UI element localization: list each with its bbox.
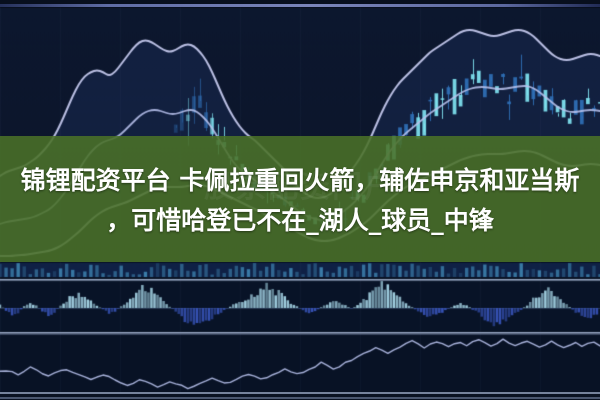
bottom-accent-rule — [0, 392, 600, 394]
headline-overlay-band: 股票配资门户 锦锂配资平台 卡佩拉重回火箭，辅佐申京和亚当斯 ，可惜哈登已不在_… — [0, 136, 600, 262]
bottom-accent-rule-secondary — [0, 397, 600, 399]
screenshot-root: 股票配资门户 锦锂配资平台 卡佩拉重回火箭，辅佐申京和亚当斯 ，可惜哈登已不在_… — [0, 0, 600, 400]
top-accent-rule — [0, 4, 600, 7]
headline-line-2: ，可惜哈登已不在_湖人_球员_中锋 — [0, 201, 600, 241]
headline-line-1: 锦锂配资平台 卡佩拉重回火箭，辅佐申京和亚当斯 — [0, 161, 600, 201]
